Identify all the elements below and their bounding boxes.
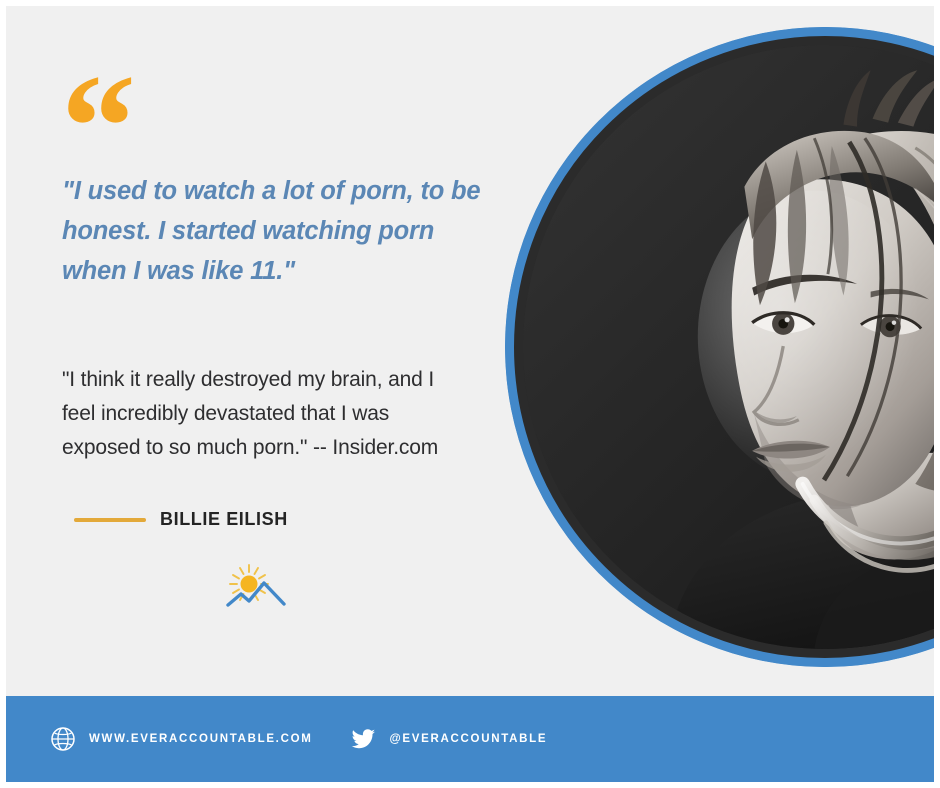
globe-icon bbox=[50, 726, 76, 752]
footer-twitter-label: @EVERACCOUNTABLE bbox=[390, 733, 548, 745]
footer-twitter-item[interactable]: @EVERACCOUNTABLE bbox=[351, 726, 548, 752]
card-inner: “ "I used to watch a lot of porn, to be … bbox=[6, 6, 934, 782]
twitter-bird-icon bbox=[351, 726, 377, 752]
portrait-image-clip bbox=[523, 45, 934, 649]
byline-author-name: BILLIE EILISH bbox=[160, 509, 288, 530]
secondary-quote-text: "I think it really destroyed my brain, a… bbox=[62, 363, 472, 465]
sun-disc bbox=[241, 576, 258, 593]
sun-over-mountains-logo bbox=[224, 563, 288, 609]
footer-bar: WWW.EVERACCOUNTABLE.COM @EVERACCOUNTABLE bbox=[6, 696, 934, 782]
footer-website-label: WWW.EVERACCOUNTABLE.COM bbox=[89, 733, 313, 745]
portrait-frame bbox=[505, 27, 934, 667]
quote-card: “ "I used to watch a lot of porn, to be … bbox=[0, 0, 940, 788]
byline-divider bbox=[74, 518, 146, 522]
primary-quote-text: "I used to watch a lot of porn, to be ho… bbox=[62, 172, 482, 291]
logo-svg bbox=[224, 563, 288, 609]
quote-column: “ "I used to watch a lot of porn, to be … bbox=[6, 6, 506, 690]
billie-eilish-portrait bbox=[523, 45, 934, 649]
byline: BILLIE EILISH bbox=[74, 509, 288, 530]
footer-website-item[interactable]: WWW.EVERACCOUNTABLE.COM bbox=[50, 726, 313, 752]
portrait-border-ring bbox=[505, 27, 934, 667]
